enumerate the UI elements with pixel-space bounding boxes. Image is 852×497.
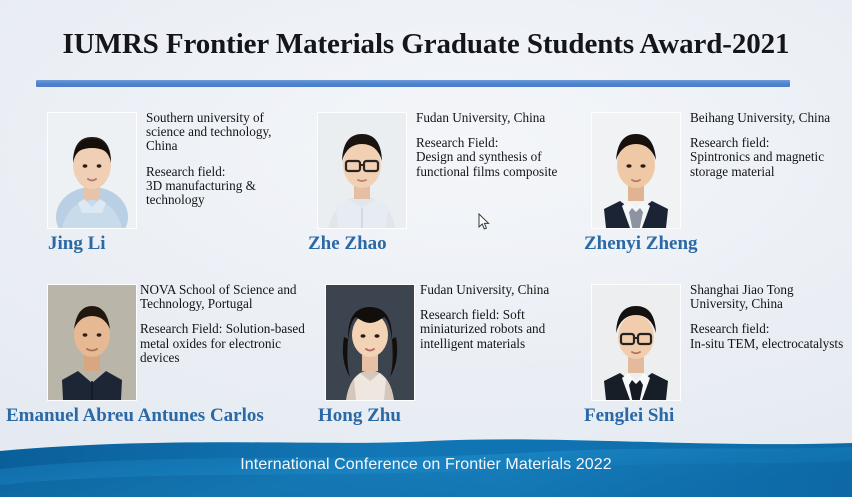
- recipient-card[interactable]: NOVA School of Science and Technology, P…: [12, 277, 296, 449]
- footer-band: International Conference on Frontier Mat…: [0, 439, 852, 497]
- recipients-grid: Southern university of science and techn…: [0, 105, 852, 449]
- recipient-photo: [318, 113, 406, 228]
- recipient-info: Beihang University, China Research field…: [690, 111, 842, 179]
- title-underline-rule: [36, 80, 790, 87]
- recipient-affiliation: Fudan University, China: [416, 111, 568, 125]
- recipient-name: Jing Li: [48, 233, 308, 255]
- recipient-name: Emanuel Abreu Antunes Carlos: [6, 405, 266, 427]
- recipients-row: NOVA School of Science and Technology, P…: [0, 277, 852, 449]
- recipient-photo: [592, 113, 680, 228]
- recipient-research-field: Research field: Spintronics and magnetic…: [690, 136, 842, 179]
- recipient-research-field: Research field: 3D manufacturing & techn…: [146, 165, 298, 208]
- recipient-card[interactable]: Shanghai Jiao Tong University, China Res…: [556, 277, 840, 449]
- page-title: IUMRS Frontier Materials Graduate Studen…: [0, 28, 852, 61]
- mouse-pointer-icon: [478, 213, 490, 231]
- recipient-photo: [326, 285, 414, 400]
- recipient-affiliation: Beihang University, China: [690, 111, 842, 125]
- recipient-card[interactable]: Fudan University, China Research Field: …: [282, 105, 566, 277]
- recipient-info: Shanghai Jiao Tong University, China Res…: [690, 283, 850, 351]
- presentation-slide: IUMRS Frontier Materials Graduate Studen…: [0, 0, 852, 497]
- recipient-info: Fudan University, China Research Field: …: [416, 111, 568, 179]
- recipient-research-field: Research field: In-situ TEM, electrocata…: [690, 322, 850, 350]
- recipient-photo: [592, 285, 680, 400]
- recipient-card[interactable]: Fudan University, China Research field: …: [282, 277, 566, 449]
- recipient-card[interactable]: Beihang University, China Research field…: [556, 105, 840, 277]
- recipient-photo: [48, 285, 136, 400]
- recipient-name: Zhe Zhao: [308, 233, 568, 255]
- recipient-info: Southern university of science and techn…: [146, 111, 298, 207]
- recipient-info: Fudan University, China Research field: …: [420, 283, 572, 351]
- footer-conference-label: International Conference on Frontier Mat…: [0, 456, 852, 474]
- recipients-row: Southern university of science and techn…: [0, 105, 852, 277]
- recipient-photo: [48, 113, 136, 228]
- recipient-name: Zhenyi Zheng: [584, 233, 844, 255]
- recipient-name: Hong Zhu: [318, 405, 578, 427]
- recipient-name: Fenglei Shi: [584, 405, 844, 427]
- recipient-affiliation: Fudan University, China: [420, 283, 572, 297]
- recipient-affiliation: Southern university of science and techn…: [146, 111, 298, 154]
- recipient-affiliation: Shanghai Jiao Tong University, China: [690, 283, 850, 311]
- recipient-research-field: Research field: Soft miniaturized robots…: [420, 308, 572, 351]
- recipient-research-field: Research Field: Design and synthesis of …: [416, 136, 568, 179]
- recipient-card[interactable]: Southern university of science and techn…: [12, 105, 296, 277]
